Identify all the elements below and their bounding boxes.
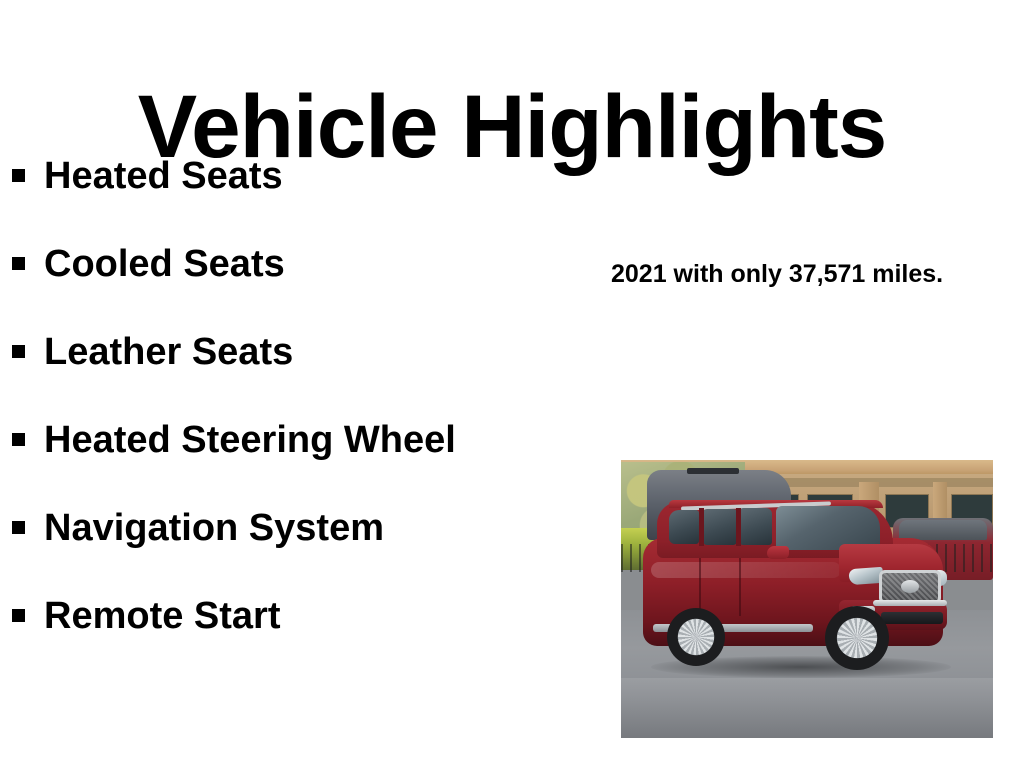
list-item[interactable]: Heated Seats [8, 152, 608, 240]
mileage-note: 2021 with only 37,571 miles. [611, 258, 979, 290]
front-door-window [740, 508, 772, 545]
front-wheel [825, 606, 889, 670]
square-bullet-icon [12, 521, 25, 534]
list-item[interactable]: Leather Seats [8, 328, 608, 416]
door-seam [699, 558, 701, 614]
rear-quarter-window [669, 510, 699, 544]
rear-wheel-rim [678, 619, 714, 655]
highlight-label: Navigation System [44, 504, 384, 552]
bumper-chrome-strip [873, 600, 947, 606]
highlight-label: Cooled Seats [44, 240, 285, 288]
list-item[interactable]: Navigation System [8, 504, 608, 592]
highlight-label: Heated Seats [44, 152, 283, 200]
side-mirror [767, 546, 789, 559]
highlight-label: Remote Start [44, 592, 281, 640]
rear-wheel [667, 608, 725, 666]
ground-sheen [621, 678, 993, 738]
list-item[interactable]: Heated Steering Wheel [8, 416, 608, 504]
lower-air-intake [881, 612, 943, 624]
van-roof-rack [687, 468, 739, 474]
infiniti-qx80-suv [643, 496, 963, 686]
rear-door-window [703, 509, 737, 545]
list-item[interactable]: Cooled Seats [8, 240, 608, 328]
photo-scene [621, 460, 993, 738]
square-bullet-icon [12, 345, 25, 358]
infiniti-emblem-icon [901, 580, 919, 593]
highlight-label: Heated Steering Wheel [44, 416, 456, 464]
highlight-label: Leather Seats [44, 328, 293, 376]
door-seam [739, 558, 741, 616]
square-bullet-icon [12, 609, 25, 622]
square-bullet-icon [12, 169, 25, 182]
vehicle-highlights-list: Heated Seats Cooled Seats Leather Seats … [8, 152, 608, 680]
slide-canvas: Vehicle Highlights Heated Seats Cooled S… [0, 0, 1024, 768]
square-bullet-icon [12, 257, 25, 270]
list-item[interactable]: Remote Start [8, 592, 608, 680]
front-wheel-rim [837, 618, 877, 658]
body-highlight [651, 562, 841, 578]
vehicle-photo [621, 460, 993, 738]
b-pillar [699, 508, 704, 546]
c-pillar [736, 508, 741, 546]
square-bullet-icon [12, 433, 25, 446]
